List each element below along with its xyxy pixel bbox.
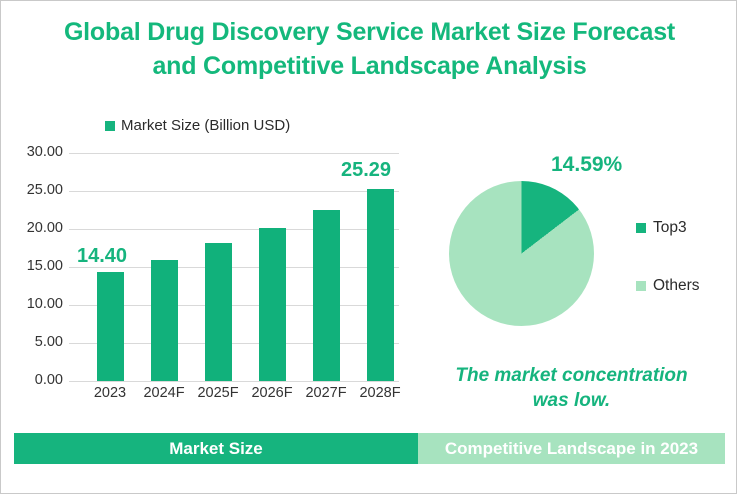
bar-chart-plot-area: 0.00 5.00 10.00 15.00 20.00 25.00 30.00 … [69,153,399,381]
x-axis-tick-2028F: 2028F [352,385,408,401]
legend-swatch-market-size-icon [105,121,115,131]
y-axis-tick-30: 30.00 [0,144,63,160]
bar-2024F[interactable] [151,260,178,381]
pie-chart-panel: 14.59% Top3 Others [421,141,731,391]
concentration-note-line-1: The market concentration [455,365,687,386]
bar-2025F[interactable] [205,243,232,381]
y-axis-tick-5: 5.00 [0,334,63,350]
pie-slice-value-label: 14.59% [551,153,622,177]
infographic-page: Global Drug Discovery Service Market Siz… [0,0,737,494]
pie-legend-label-others: Others [653,277,700,295]
gridline-25 [69,191,399,192]
page-title-line-1: Global Drug Discovery Service Market Siz… [1,15,737,49]
pie-legend-item-top3[interactable]: Top3 [636,219,687,237]
x-axis-tick-2024F: 2024F [136,385,192,401]
bar-value-label-2028F: 25.29 [341,159,391,182]
legend-label-market-size: Market Size (Billion USD) [121,117,290,134]
x-axis-tick-2025F: 2025F [190,385,246,401]
bar-chart-legend: Market Size (Billion USD) [105,117,290,134]
page-title: Global Drug Discovery Service Market Siz… [1,15,737,83]
footer-tab-bar: Market Size Competitive Landscape in 202… [14,433,725,464]
footer-tab-competitive-landscape[interactable]: Competitive Landscape in 2023 [418,433,725,464]
gridline-30 [69,153,399,154]
footer-tab-market-size-label: Market Size [169,439,263,459]
gridline-20 [69,229,399,230]
x-axis-tick-2026F: 2026F [244,385,300,401]
y-axis-tick-0: 0.00 [0,372,63,388]
y-axis-tick-10: 10.00 [0,296,63,312]
page-title-line-2: and Competitive Landscape Analysis [1,49,737,83]
x-axis-tick-2023: 2023 [82,385,138,401]
concentration-note-line-2: was low. [533,390,610,411]
y-axis-tick-25: 25.00 [0,182,63,198]
x-axis-tick-2027F: 2027F [298,385,354,401]
pie-legend-label-top3: Top3 [653,219,687,237]
legend-swatch-top3-icon [636,223,646,233]
footer-tab-market-size[interactable]: Market Size [14,433,418,464]
bar-2027F[interactable] [313,210,340,381]
bar-chart-panel: Market Size (Billion USD) 0.00 5.00 10.0… [9,109,409,419]
concentration-note: The market concentration was low. [405,363,737,413]
bar-2028F[interactable] [367,189,394,381]
pie-chart[interactable] [449,181,594,326]
pie-legend-item-others[interactable]: Others [636,277,700,295]
footer-tab-competitive-landscape-label: Competitive Landscape in 2023 [445,439,698,459]
bar-2026F[interactable] [259,228,286,381]
y-axis-tick-20: 20.00 [0,220,63,236]
bar-2023[interactable] [97,272,124,381]
y-axis-tick-15: 15.00 [0,258,63,274]
legend-swatch-others-icon [636,281,646,291]
bar-value-label-2023: 14.40 [77,245,127,268]
gridline-0 [69,381,399,382]
